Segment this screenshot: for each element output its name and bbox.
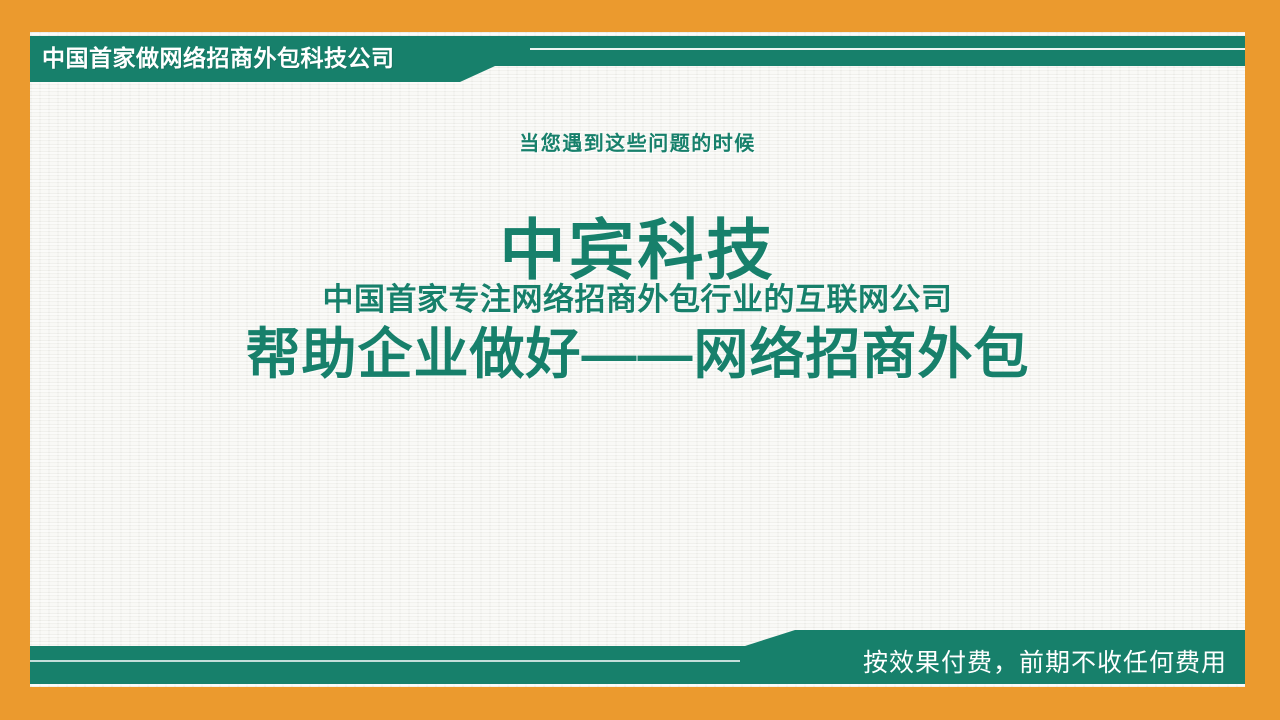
main-headline: 帮助企业做好——网络招商外包 [30,321,1245,387]
slide-content: 当您遇到这些问题的时候 中宾科技 中国首家专注网络招商外包行业的互联网公司 帮助… [30,130,1245,387]
footer-banner: 按效果付费，前期不收任何费用 [30,628,1245,684]
footer-accent-line [30,660,740,662]
eyebrow-text: 当您遇到这些问题的时候 [30,130,1245,158]
header-title: 中国首家做网络招商外包科技公司 [42,43,395,73]
footer-text: 按效果付费，前期不收任何费用 [863,648,1227,678]
header-banner: 中国首家做网络招商外包科技公司 [30,36,1245,82]
header-accent-line [530,48,1245,50]
brand-tagline: 中国首家专注网络招商外包行业的互联网公司 [30,281,1245,319]
brand-name: 中宾科技 [30,213,1245,287]
presentation-slide: 中国首家做网络招商外包科技公司 当您遇到这些问题的时候 中宾科技 中国首家专注网… [0,0,1280,720]
